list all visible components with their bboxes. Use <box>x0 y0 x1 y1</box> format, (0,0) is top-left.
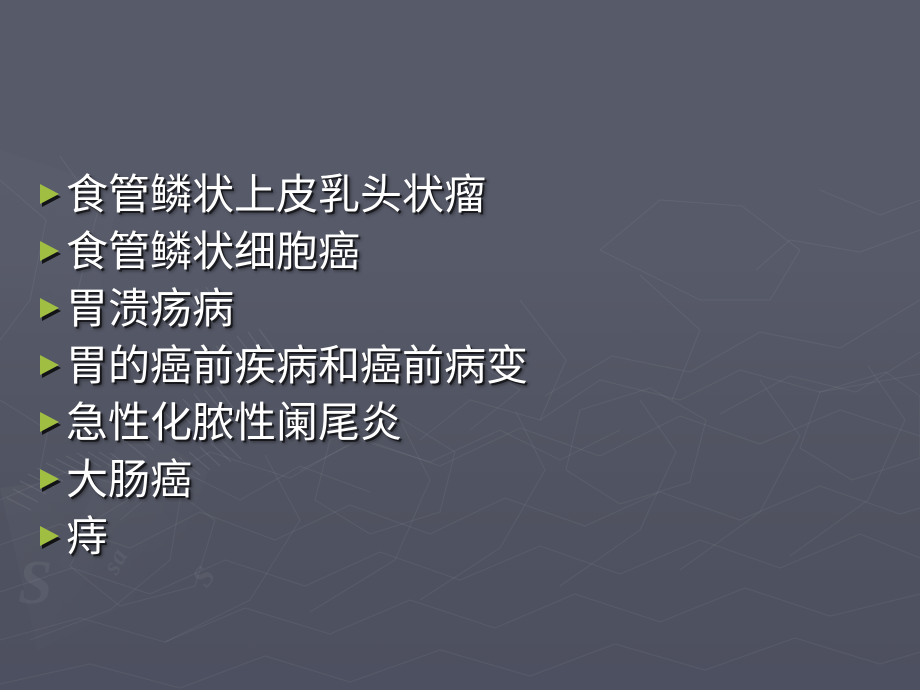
triangle-right-icon <box>34 514 66 556</box>
triangle-right-icon <box>34 343 66 385</box>
list-item[interactable]: 大肠癌 <box>34 457 894 514</box>
list-item[interactable]: 急性化脓性阑尾炎 <box>34 400 894 457</box>
list-item[interactable]: 胃的癌前疾病和癌前病变 <box>34 343 894 400</box>
slide-bullet-list: 食管鳞状上皮乳头状瘤 食管鳞状细胞癌 胃溃疡病 胃的癌前疾病和癌前病变 急性化脓… <box>34 172 894 571</box>
list-item-label: 胃溃疡病 <box>66 286 894 334</box>
list-item[interactable]: 胃溃疡病 <box>34 286 894 343</box>
list-item[interactable]: 痔 <box>34 514 894 571</box>
list-item[interactable]: 食管鳞状上皮乳头状瘤 <box>34 172 894 229</box>
presentation-slide: S sa S 食管鳞状上皮乳头状瘤 食管鳞状细胞癌 胃溃疡病 胃的癌前疾病和癌前… <box>0 0 920 690</box>
triangle-right-icon <box>34 286 66 328</box>
list-item-label: 大肠癌 <box>66 457 894 505</box>
triangle-right-icon <box>34 400 66 442</box>
triangle-right-icon <box>34 172 66 214</box>
triangle-right-icon <box>34 457 66 499</box>
triangle-right-icon <box>34 229 66 271</box>
list-item-label: 急性化脓性阑尾炎 <box>66 400 894 448</box>
list-item-label: 食管鳞状细胞癌 <box>66 229 894 277</box>
list-item[interactable]: 食管鳞状细胞癌 <box>34 229 894 286</box>
list-item-label: 胃的癌前疾病和癌前病变 <box>66 343 894 391</box>
list-item-label: 食管鳞状上皮乳头状瘤 <box>66 172 894 220</box>
list-item-label: 痔 <box>66 514 894 562</box>
